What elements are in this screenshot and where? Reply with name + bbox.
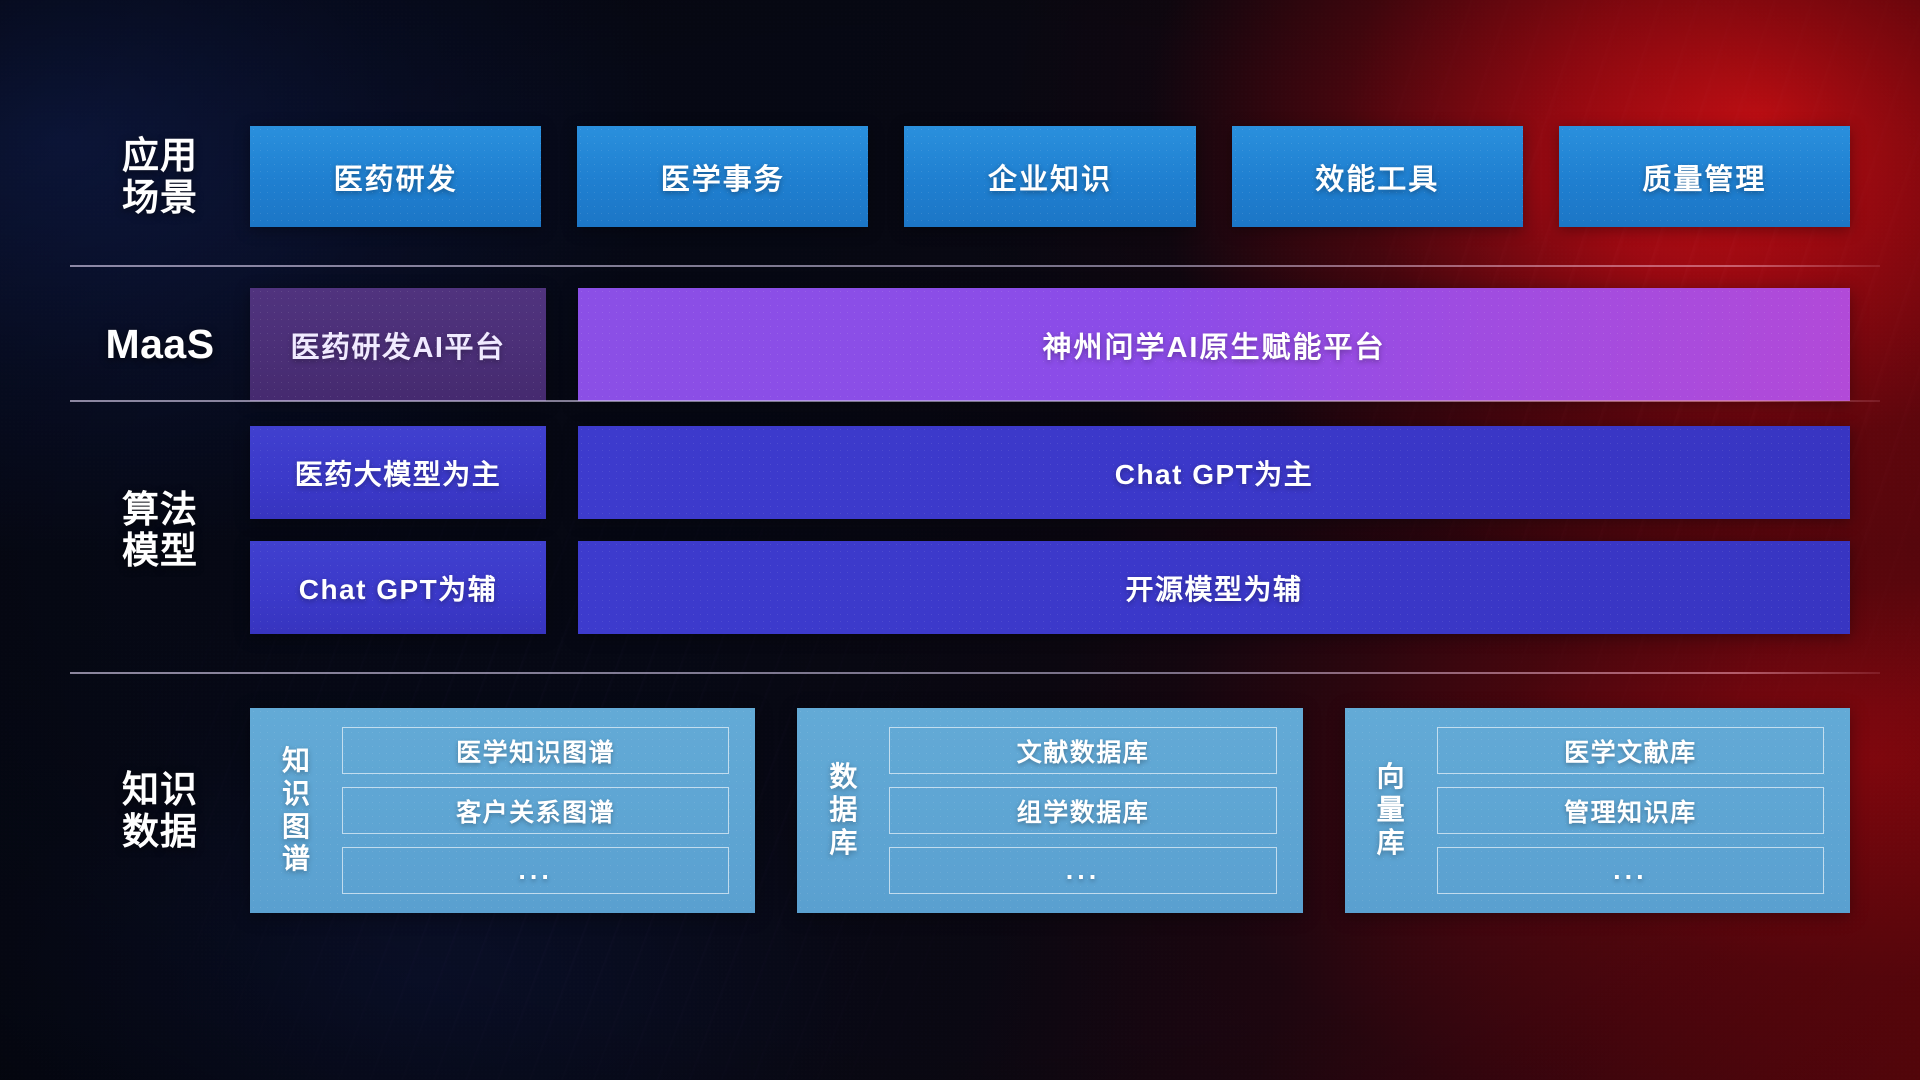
knowledge-panel-title-char: 据	[829, 794, 857, 827]
architecture-diagram: 应用 场景 医药研发 医学事务 企业知识 效能工具 质量管理 MaaS 医药研发…	[0, 0, 1920, 1080]
row-knowledge-data: 知识 数据 知 识 图 谱 医学知识图谱 客户关系图谱 ...	[70, 708, 1850, 913]
knowledge-panel-title-char: 库	[829, 827, 857, 860]
knowledge-panel-title-char: 识	[282, 778, 310, 811]
row-algorithm-model: 算法 模型 医药大模型为主 Chat GPT为主 Chat GPT为辅 开源模型…	[70, 420, 1850, 640]
maas-shenzhou-wenxue-platform[interactable]: 神州问学AI原生赋能平台	[578, 288, 1850, 401]
app-tile-medical-affairs[interactable]: 医学事务	[577, 126, 868, 227]
app-tile-label: 效能工具	[1315, 156, 1439, 198]
knowledge-panels: 知 识 图 谱 医学知识图谱 客户关系图谱 ... 数 据	[250, 708, 1850, 913]
knowledge-panel-title: 知 识 图 谱	[250, 745, 342, 876]
algo-drug-large-model-primary[interactable]: 医药大模型为主	[250, 426, 546, 519]
maas-right-label: 神州问学AI原生赋能平台	[1042, 324, 1385, 366]
maas-drug-rd-ai-platform[interactable]: 医药研发AI平台	[250, 288, 546, 401]
divider-algo-knowledge	[70, 672, 1880, 674]
row-label-application-scenarios: 应用 场景	[70, 135, 250, 218]
knowledge-panel-title-char: 谱	[282, 843, 310, 876]
app-tile-label: 医药研发	[334, 156, 458, 198]
algo-chatgpt-primary[interactable]: Chat GPT为主	[578, 426, 1850, 519]
row-label-knowledge-data: 知识 数据	[70, 769, 250, 852]
app-tile-label: 医学事务	[661, 156, 785, 198]
knowledge-item-management-knowledge[interactable]: 管理知识库	[1437, 787, 1824, 834]
app-tile-label: 质量管理	[1642, 156, 1766, 198]
knowledge-panel-title-char: 知	[282, 745, 310, 778]
knowledge-item-medical-graph[interactable]: 医学知识图谱	[342, 727, 729, 774]
knowledge-item-list: 文献数据库 组学数据库 ...	[889, 727, 1302, 894]
knowledge-item-more[interactable]: ...	[342, 847, 729, 894]
knowledge-panel-title-char: 数	[829, 761, 857, 794]
knowledge-panel-title-char: 量	[1377, 794, 1405, 827]
application-tiles: 医药研发 医学事务 企业知识 效能工具 质量管理	[250, 126, 1850, 227]
divider-apps-maas	[70, 265, 1880, 267]
knowledge-item-more[interactable]: ...	[1437, 847, 1824, 894]
algorithm-line-secondary: Chat GPT为辅 开源模型为辅	[250, 541, 1850, 634]
knowledge-panel-knowledge-graph[interactable]: 知 识 图 谱 医学知识图谱 客户关系图谱 ...	[250, 708, 755, 913]
row-label-maas: MaaS	[70, 322, 250, 368]
knowledge-panel-title: 数 据 库	[797, 761, 889, 859]
divider-maas-algo	[70, 400, 1880, 402]
algo-left-label: Chat GPT为辅	[299, 568, 498, 608]
algorithm-line-primary: 医药大模型为主 Chat GPT为主	[250, 426, 1850, 519]
knowledge-item-list: 医学文献库 管理知识库 ...	[1437, 727, 1850, 894]
row-maas: MaaS 医药研发AI平台 神州问学AI原生赋能平台	[70, 288, 1850, 401]
algo-opensource-secondary[interactable]: 开源模型为辅	[578, 541, 1850, 634]
knowledge-item-medical-literature[interactable]: 医学文献库	[1437, 727, 1824, 774]
app-tile-drug-rd[interactable]: 医药研发	[250, 126, 541, 227]
knowledge-item-omics-db[interactable]: 组学数据库	[889, 787, 1276, 834]
algo-right-label: 开源模型为辅	[1125, 568, 1302, 608]
knowledge-panel-title: 向 量 库	[1345, 761, 1437, 859]
knowledge-panel-vector-store[interactable]: 向 量 库 医学文献库 管理知识库 ...	[1345, 708, 1850, 913]
knowledge-item-customer-graph[interactable]: 客户关系图谱	[342, 787, 729, 834]
algo-right-label: Chat GPT为主	[1115, 453, 1314, 493]
algorithm-blocks: 医药大模型为主 Chat GPT为主 Chat GPT为辅 开源模型为辅	[250, 426, 1850, 634]
app-tile-efficiency-tools[interactable]: 效能工具	[1232, 126, 1523, 227]
knowledge-item-list: 医学知识图谱 客户关系图谱 ...	[342, 727, 755, 894]
maas-blocks: 医药研发AI平台 神州问学AI原生赋能平台	[250, 288, 1850, 401]
knowledge-panel-title-char: 向	[1377, 761, 1405, 794]
row-application-scenarios: 应用 场景 医药研发 医学事务 企业知识 效能工具 质量管理	[70, 126, 1850, 227]
slide-canvas: 应用 场景 医药研发 医学事务 企业知识 效能工具 质量管理 MaaS 医药研发…	[0, 0, 1920, 1080]
app-tile-enterprise-knowledge[interactable]: 企业知识	[904, 126, 1195, 227]
app-tile-label: 企业知识	[988, 156, 1112, 198]
knowledge-panel-title-char: 图	[282, 811, 310, 844]
row-label-algorithm-model: 算法 模型	[70, 489, 250, 572]
app-tile-quality-management[interactable]: 质量管理	[1559, 126, 1850, 227]
algo-chatgpt-secondary[interactable]: Chat GPT为辅	[250, 541, 546, 634]
knowledge-item-more[interactable]: ...	[889, 847, 1276, 894]
knowledge-panel-database[interactable]: 数 据 库 文献数据库 组学数据库 ...	[797, 708, 1302, 913]
knowledge-panel-title-char: 库	[1377, 827, 1405, 860]
algo-left-label: 医药大模型为主	[295, 453, 502, 493]
maas-left-label: 医药研发AI平台	[290, 324, 505, 366]
knowledge-item-literature-db[interactable]: 文献数据库	[889, 727, 1276, 774]
